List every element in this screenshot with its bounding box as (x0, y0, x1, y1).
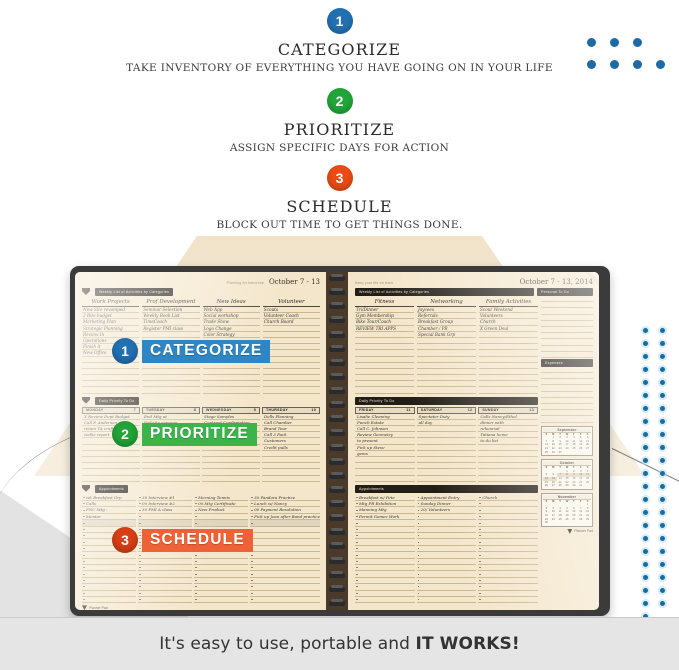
day-header: MONDAY7 (82, 407, 140, 414)
category-column: Family ActivitiesScout WeekendVolunteers… (479, 299, 538, 394)
dot (660, 536, 665, 541)
mini-calendar-day: 27 (550, 484, 557, 488)
overlay-1-label: CATEGORIZE (142, 340, 270, 363)
right-side-column: Expenses SeptemberSMTWTFS123456789101112… (541, 296, 593, 603)
right-categories: FitnessTri/DinnerGym MembershipBike Tour… (355, 299, 538, 394)
planner-spiral-spine (326, 272, 348, 610)
right-footer-mark-label: Planner Pad (574, 529, 593, 533)
right-header-date: October 7 - 13, 2014 (520, 278, 593, 286)
planner-right-page: Keep your life on track October 7 - 13, … (348, 272, 599, 610)
appointment-column: Breakfast w/ PeteMtg PR ExhibitionMannin… (355, 495, 415, 604)
dot (633, 60, 642, 69)
day-header: SATURDAY12 (417, 407, 477, 414)
dot (643, 367, 648, 372)
dot (656, 60, 665, 69)
day-number: 7 (134, 408, 136, 412)
day-column: FRIDAY11Lisalie CleaningPunch EstateCall… (355, 407, 415, 482)
left-footer-mark-label: Planner Pad (89, 606, 108, 610)
day-number: 10 (311, 408, 316, 412)
left-todo-bar: Daily Priority To Do (95, 397, 139, 405)
coil (329, 488, 345, 493)
left-appointments-bar: Appointments (95, 485, 128, 493)
category-line (355, 387, 414, 393)
step-2-title: PRIORITIZE (0, 120, 679, 139)
mini-calendar-day (577, 451, 584, 455)
appointment-line (250, 597, 320, 603)
overlay-3-badge: 3 (112, 527, 138, 553)
coil (329, 446, 345, 451)
mini-calendar: SeptemberSMTWTFS123456789101112131415161… (541, 426, 593, 457)
category-line (263, 387, 320, 393)
footer-text-plain: It's easy to use, portable and (159, 634, 415, 654)
right-todo-bar: Daily Priority To Do (355, 397, 538, 405)
day-header: SUNDAY13 (478, 407, 538, 414)
mini-calendar-day (584, 484, 591, 488)
dot (633, 38, 642, 47)
dot (643, 484, 648, 489)
side-line (541, 416, 593, 422)
day-number: 9 (254, 408, 256, 412)
coil (329, 417, 345, 422)
day-line (478, 476, 538, 482)
category-column: VolunteerScoutsVolunteer CoachChurch Boa… (263, 299, 320, 394)
dot (660, 445, 665, 450)
right-days: FRIDAY11Lisalie CleaningPunch EstateCall… (355, 407, 538, 482)
category-heading: Volunteer (263, 299, 320, 307)
mini-calendar-day: 30 (543, 521, 550, 525)
day-name: TUESDAY (146, 408, 165, 412)
right-side-bar: Personal To Do (537, 288, 593, 296)
coil (329, 389, 345, 394)
coil (329, 460, 345, 465)
mini-calendar-day (570, 521, 577, 525)
side-line (541, 352, 593, 358)
right-side-lines (541, 296, 593, 358)
right-main-column: FitnessTri/DinnerGym MembershipBike Tour… (355, 296, 538, 603)
dot (660, 328, 665, 333)
dot (643, 445, 648, 450)
category-line (479, 387, 538, 393)
coil (329, 530, 345, 535)
dot (643, 458, 648, 463)
coil (329, 544, 345, 549)
footer-text-bold: IT WORKS! (416, 634, 520, 654)
coil (329, 403, 345, 408)
overlay-categorize: 1 CATEGORIZE (112, 338, 270, 364)
coil (329, 587, 345, 592)
planner-book: Planning for tomorrow October 7 - 13 Wee… (70, 266, 610, 616)
dot (610, 38, 619, 47)
category-line (203, 387, 260, 393)
expenses-bar: Expenses (541, 359, 593, 367)
dot (660, 497, 665, 502)
dot (643, 354, 648, 359)
day-header: WEDNESDAY9 (202, 407, 260, 414)
mini-calendar-day (557, 521, 564, 525)
dot (660, 484, 665, 489)
dot (643, 549, 648, 554)
category-line (142, 387, 199, 393)
overlay-2-badge: 2 (112, 421, 138, 447)
category-heading: Prof Development (142, 299, 199, 307)
category-heading: Work Projects (82, 299, 139, 307)
appointment-column: Appointment EntrySunday Dinner20/ Volunt… (417, 495, 477, 604)
coil (329, 559, 345, 564)
coil (329, 375, 345, 380)
dot (660, 562, 665, 567)
coil (329, 304, 345, 309)
flag-icon (82, 485, 90, 492)
dot (643, 497, 648, 502)
dot (660, 406, 665, 411)
dot (660, 341, 665, 346)
step-3: 3 SCHEDULE BLOCK OUT TIME TO GET THINGS … (0, 165, 679, 231)
dot (643, 393, 648, 398)
day-name: MONDAY (86, 408, 103, 412)
overlay-prioritize: 2 PRIORITIZE (112, 421, 257, 447)
dot (643, 575, 648, 580)
step-1-subtitle: TAKE INVENTORY OF EVERYTHING YOU HAVE GO… (0, 62, 679, 74)
step-2-subtitle: ASSIGN SPECIFIC DAYS FOR ACTION (0, 142, 679, 154)
appointment-line (82, 597, 136, 603)
dot (660, 510, 665, 515)
dot (660, 380, 665, 385)
flag-icon (82, 288, 90, 295)
dot (643, 588, 648, 593)
dot (660, 458, 665, 463)
dot (643, 328, 648, 333)
dot (643, 406, 648, 411)
step-1: 1 CATEGORIZE TAKE INVENTORY OF EVERYTHIN… (0, 8, 679, 74)
dot (660, 601, 665, 606)
coil (329, 601, 345, 606)
category-line (82, 387, 139, 393)
day-header: THURSDAY10 (262, 407, 320, 414)
right-header-note: Keep your life on track (355, 281, 393, 285)
right-section-bar: Weekly List of Activities by Categories (355, 288, 534, 296)
coil (329, 347, 345, 352)
dot (643, 536, 648, 541)
left-header-note: Planning for tomorrow (227, 281, 264, 285)
step-3-subtitle: BLOCK OUT TIME TO GET THINGS DONE. (0, 219, 679, 231)
dot (610, 60, 619, 69)
mini-calendar-grid: SMTWTFS123456789101112131415161718192021… (543, 500, 591, 525)
right-appointments-bar: Appointments (355, 485, 538, 493)
left-section-bar-row: Weekly List of Activities by Categories (82, 287, 320, 296)
dot (587, 38, 596, 47)
right-appt-bar-row: Appointments (355, 484, 538, 493)
appointment-line (478, 597, 538, 603)
page-root: 1 CATEGORIZE TAKE INVENTORY OF EVERYTHIN… (0, 0, 679, 670)
dot (660, 588, 665, 593)
dot (643, 380, 648, 385)
right-page-header: Keep your life on track October 7 - 13, … (355, 278, 593, 287)
mini-calendar-day: 29 (550, 451, 557, 455)
left-footer-mark: Planner Pad (82, 605, 320, 610)
day-number: 11 (406, 408, 410, 412)
mini-calendar-day (584, 451, 591, 455)
dot-grid-decoration (587, 38, 665, 82)
day-line (417, 476, 477, 482)
dot (660, 419, 665, 424)
right-side-lines-2 (541, 367, 593, 423)
dot (660, 367, 665, 372)
dot (660, 354, 665, 359)
mini-calendar-day: 26 (543, 484, 550, 488)
day-number: 8 (194, 408, 196, 412)
coil (329, 516, 345, 521)
day-line (82, 476, 140, 482)
dot (660, 575, 665, 580)
overlay-3-label: SCHEDULE (142, 529, 253, 552)
step-3-title: SCHEDULE (0, 197, 679, 216)
mini-calendar-day: 28 (557, 484, 564, 488)
category-heading: Networking (417, 299, 476, 307)
mini-calendars: SeptemberSMTWTFS123456789101112131415161… (541, 426, 593, 527)
mini-calendar-day (570, 451, 577, 455)
coil (329, 318, 345, 323)
mini-calendar-day (577, 521, 584, 525)
step-2-badge: 2 (327, 88, 353, 114)
dot (643, 601, 648, 606)
step-1-badge: 1 (327, 8, 353, 34)
mini-calendar: OctoberSMTWTFS12345678910111213141516171… (541, 459, 593, 490)
category-line (417, 387, 476, 393)
dot (660, 432, 665, 437)
dot (643, 419, 648, 424)
right-page-body: FitnessTri/DinnerGym MembershipBike Tour… (355, 296, 593, 603)
day-line (202, 476, 260, 482)
day-name: FRIDAY (359, 408, 374, 412)
coil (329, 333, 345, 338)
dot (660, 471, 665, 476)
coil (329, 290, 345, 295)
step-2: 2 PRIORITIZE ASSIGN SPECIFIC DAYS FOR AC… (0, 88, 679, 154)
step-1-title: CATEGORIZE (0, 40, 679, 59)
dot (660, 393, 665, 398)
footer-bar: It's easy to use, portable and IT WORKS! (0, 617, 679, 670)
left-section-bar: Weekly List of Activities by Categories (95, 288, 173, 296)
day-name: THURSDAY (266, 408, 288, 412)
mini-calendar-day: 29 (564, 484, 571, 488)
dot (643, 562, 648, 567)
coil (329, 361, 345, 366)
dot-column-right (660, 328, 665, 666)
coil (329, 573, 345, 578)
day-name: SUNDAY (482, 408, 499, 412)
category-column: FitnessTri/DinnerGym MembershipBike Tour… (355, 299, 414, 394)
appointment-line (417, 597, 477, 603)
right-section-bar-row: Weekly List of Activities by Categories … (355, 287, 593, 296)
coil (329, 502, 345, 507)
coil (329, 431, 345, 436)
day-header: TUESDAY8 (142, 407, 200, 414)
right-footer-mark: Planner Pad (541, 529, 593, 534)
day-column: SUNDAY13Calls Nancy/Etheldinner withrehe… (478, 407, 538, 482)
appointment-column: 30 Pandora PracticeLunch w/ Nancy00 Paym… (250, 495, 320, 604)
left-header-date: October 7 - 13 (269, 278, 320, 286)
day-line (355, 476, 415, 482)
day-line (142, 476, 200, 482)
day-name: SATURDAY (421, 408, 443, 412)
day-column: THURSDAY10Dells PlanningCall ChamberBran… (262, 407, 320, 482)
mini-calendar-day: 30 (570, 484, 577, 488)
mini-calendar-grid: SMTWTFS123456789101112131415161718192021… (543, 466, 591, 488)
mini-calendar-day: 30 (557, 451, 564, 455)
mini-calendar-grid: SMTWTFS123456789101112131415161718192021… (543, 433, 591, 455)
dot (587, 60, 596, 69)
day-column: SATURDAY12Spectator Dutyall day (417, 407, 477, 482)
mini-calendar: NovemberSMTWTFS1234567891011121314151617… (541, 493, 593, 527)
right-todo-bar-row: Daily Priority To Do (355, 396, 538, 405)
appointment-column: Church (478, 495, 538, 604)
triangle-icon (567, 529, 572, 534)
dot (643, 341, 648, 346)
flag-icon (82, 397, 90, 404)
left-appt-bar-row: Appointments (82, 484, 320, 493)
dot (660, 523, 665, 528)
appointment-line (355, 597, 415, 603)
appointment-line (194, 597, 248, 603)
mini-calendar-day: 28 (543, 451, 550, 455)
category-heading: Fitness (355, 299, 414, 307)
step-3-badge: 3 (327, 165, 353, 191)
overlay-1-badge: 1 (112, 338, 138, 364)
left-page-header: Planning for tomorrow October 7 - 13 (82, 278, 320, 287)
dot (643, 432, 648, 437)
day-header: FRIDAY11 (355, 407, 415, 414)
dot-columns-decoration (643, 328, 665, 666)
coil (329, 276, 345, 281)
triangle-icon (82, 605, 87, 610)
dot-column-left (643, 328, 648, 666)
coil (329, 474, 345, 479)
category-heading: New Ideas (203, 299, 260, 307)
left-todo-bar-row: Daily Priority To Do (82, 396, 320, 405)
dot (643, 471, 648, 476)
dot (660, 549, 665, 554)
mini-calendar-day (564, 451, 571, 455)
day-name: WEDNESDAY (206, 408, 232, 412)
overlay-schedule: 3 SCHEDULE (112, 527, 253, 553)
steps-section: 1 CATEGORIZE TAKE INVENTORY OF EVERYTHIN… (0, 0, 679, 232)
category-heading: Family Activities (479, 299, 538, 307)
footer-text: It's easy to use, portable and IT WORKS! (159, 634, 520, 654)
dot (643, 510, 648, 515)
day-number: 12 (468, 408, 473, 412)
mini-calendar-day (584, 521, 591, 525)
mini-calendar-day (564, 521, 571, 525)
appointment-line (138, 597, 192, 603)
day-line (262, 476, 320, 482)
overlay-2-label: PRIORITIZE (142, 423, 257, 446)
right-appointments: Breakfast w/ PeteMtg PR ExhibitionMannin… (355, 495, 538, 604)
day-number: 13 (529, 408, 534, 412)
mini-calendar-day: 31 (577, 484, 584, 488)
mini-calendar-day (550, 521, 557, 525)
category-column: NetworkingJayceesReferralsBreakfast Grou… (417, 299, 476, 394)
dot (643, 523, 648, 528)
